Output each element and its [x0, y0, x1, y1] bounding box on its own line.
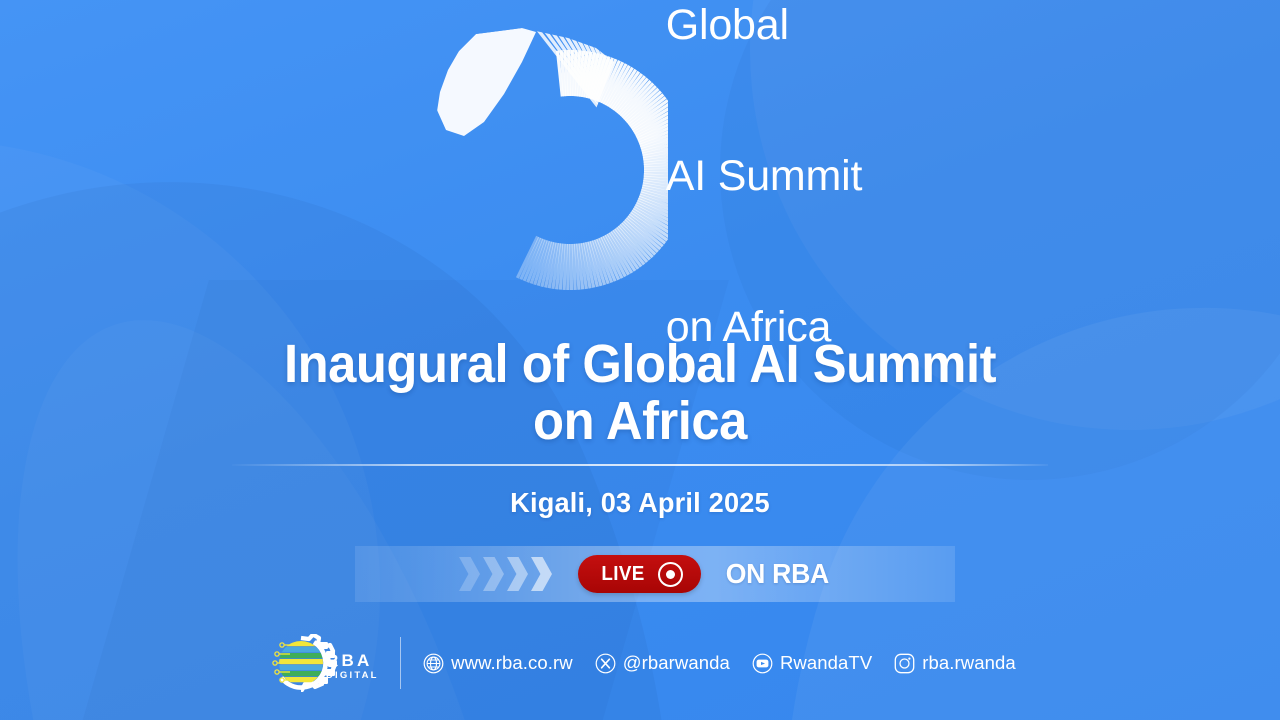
live-badge: LIVE	[578, 555, 701, 593]
social-link-instagram[interactable]: rba.rwanda	[894, 652, 1016, 674]
social-link-website[interactable]: www.rba.co.rw	[423, 652, 573, 674]
footer-separator	[400, 637, 401, 689]
instagram-icon	[894, 653, 915, 674]
page-title: Inaugural of Global AI Summit on Africa	[38, 336, 1241, 449]
live-label: LIVE	[601, 563, 644, 586]
channel-label: ON RBA	[726, 558, 829, 590]
broadcast-lower-third-slate: Global AI Summit on Africa Inaugural of …	[0, 0, 1280, 720]
globe-icon	[423, 653, 444, 674]
social-label: www.rba.co.rw	[451, 652, 573, 674]
record-dot-icon	[658, 562, 683, 587]
title-container: Inaugural of Global AI Summit on Africa	[0, 336, 1280, 449]
divider	[232, 464, 1048, 466]
footer-bar: RBA DIGITAL www.rba.co.rw @rbarwanda	[0, 632, 1280, 694]
event-logo: Global AI Summit on Africa	[0, 18, 1280, 328]
social-link-youtube[interactable]: RwandaTV	[752, 652, 872, 674]
rba-digital-gear-globe-logo-icon: RBA DIGITAL	[264, 634, 386, 692]
chevron-right-icon	[531, 557, 552, 591]
social-label: @rbarwanda	[623, 652, 730, 674]
rba-logo-name: RBA	[326, 651, 372, 670]
wordmark-line: AI Summit	[666, 151, 863, 201]
chevron-right-icon	[459, 557, 480, 591]
x-twitter-icon	[595, 653, 616, 674]
social-links: www.rba.co.rw @rbarwanda RwandaTV	[423, 652, 1016, 674]
youtube-icon	[752, 653, 773, 674]
social-link-x[interactable]: @rbarwanda	[595, 652, 730, 674]
rba-logo-sub: DIGITAL	[326, 670, 379, 681]
chevron-right-icon	[483, 557, 504, 591]
africa-radial-lines-logo-icon	[418, 18, 668, 328]
location-date: Kigali, 03 April 2025	[19, 487, 1261, 519]
chevron-group	[459, 557, 552, 591]
wordmark-line: Global	[666, 0, 863, 50]
social-label: rba.rwanda	[922, 652, 1016, 674]
chevron-right-icon	[507, 557, 528, 591]
social-label: RwandaTV	[780, 652, 872, 674]
live-banner: LIVE ON RBA	[355, 546, 955, 602]
